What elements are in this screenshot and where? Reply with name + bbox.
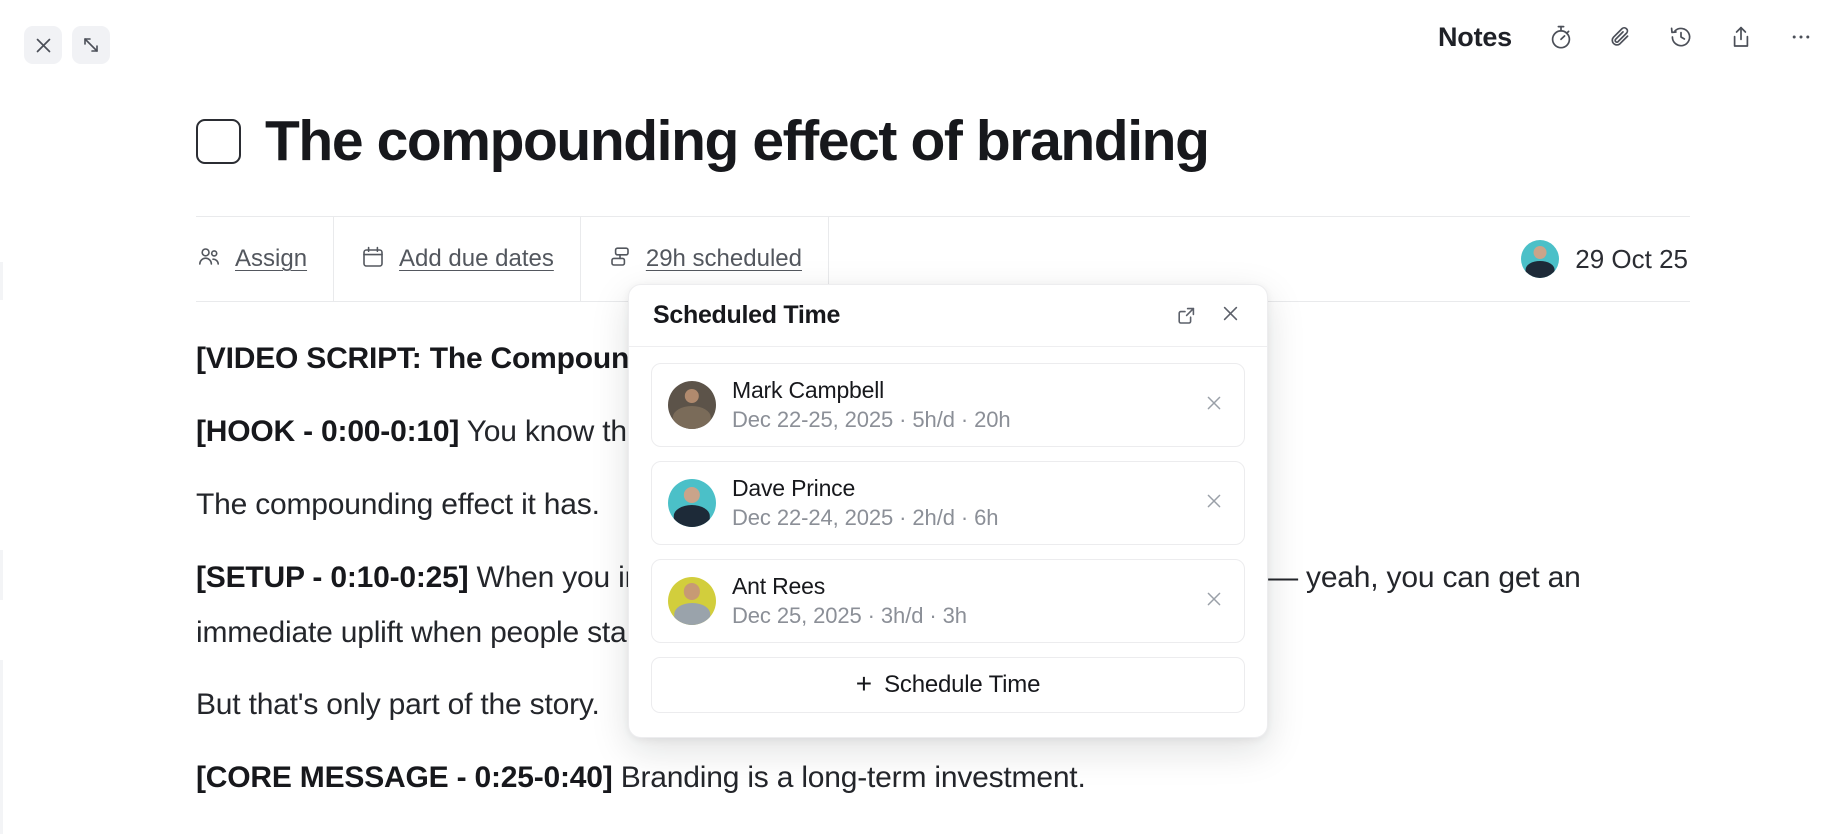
header-actions: Notes bbox=[1438, 20, 1818, 54]
popover-body: Mark Campbell Dec 22-25, 2025 · 5h/d · 2… bbox=[629, 347, 1267, 737]
history-icon[interactable] bbox=[1664, 20, 1698, 54]
list-item[interactable]: Mark Campbell Dec 22-25, 2025 · 5h/d · 2… bbox=[651, 363, 1245, 447]
schedule-time-label: Schedule Time bbox=[884, 671, 1040, 699]
remove-schedule-button[interactable] bbox=[1198, 389, 1230, 421]
scheduled-time-popover: Scheduled Time bbox=[628, 284, 1268, 738]
people-icon bbox=[196, 244, 222, 275]
assignee-name: Mark Campbell bbox=[732, 377, 1011, 405]
assign-button[interactable]: Assign bbox=[196, 216, 334, 302]
popover-close-button[interactable] bbox=[1213, 299, 1247, 333]
left-edge-rail bbox=[0, 0, 3, 834]
list-item[interactable]: Dave Prince Dec 22-24, 2025 · 2h/d · 6h bbox=[651, 461, 1245, 545]
list-item-text: Mark Campbell Dec 22-25, 2025 · 5h/d · 2… bbox=[732, 377, 1011, 433]
popover-title: Scheduled Time bbox=[653, 301, 840, 330]
expand-window-button[interactable] bbox=[72, 26, 110, 64]
schedule-time-button[interactable]: + Schedule Time bbox=[651, 657, 1245, 713]
assignee-schedule: Dec 22-24, 2025 · 2h/d · 6h bbox=[732, 505, 998, 531]
task-title-row: The compounding effect of branding bbox=[196, 112, 1209, 172]
paragraph-text: But that's only part of the story. bbox=[196, 688, 600, 721]
share-icon[interactable] bbox=[1724, 20, 1758, 54]
close-icon bbox=[1204, 589, 1224, 614]
task-date[interactable]: 29 Oct 25 bbox=[1521, 240, 1690, 278]
more-options-icon[interactable] bbox=[1784, 20, 1818, 54]
assignee-schedule: Dec 22-25, 2025 · 5h/d · 20h bbox=[732, 407, 1011, 433]
paragraph: [CORE MESSAGE - 0:25-0:40] Branding is a… bbox=[196, 751, 1676, 806]
window-toolbar: Notes bbox=[0, 0, 1840, 86]
paragraph: Think about it like buying stocks. You d… bbox=[196, 824, 1676, 834]
task-complete-checkbox[interactable] bbox=[196, 119, 241, 164]
popover-header: Scheduled Time bbox=[629, 285, 1267, 347]
paragraph-bold: [HOOK - 0:00-0:10] bbox=[196, 415, 459, 448]
paperclip-icon[interactable] bbox=[1604, 20, 1638, 54]
assignee-name: Dave Prince bbox=[732, 475, 998, 503]
scheduled-time-label: 29h scheduled bbox=[646, 245, 802, 273]
calendar-icon bbox=[360, 244, 386, 275]
remove-schedule-button[interactable] bbox=[1198, 487, 1230, 519]
avatar bbox=[668, 479, 716, 527]
avatar bbox=[668, 381, 716, 429]
assignee-name: Ant Rees bbox=[732, 573, 967, 601]
task-detail-window: Notes bbox=[0, 0, 1840, 834]
task-date-label: 29 Oct 25 bbox=[1575, 244, 1688, 275]
list-item-text: Dave Prince Dec 22-24, 2025 · 2h/d · 6h bbox=[732, 475, 998, 531]
paragraph-bold: [SETUP - 0:10-0:25] bbox=[196, 561, 468, 594]
add-due-dates-label: Add due dates bbox=[399, 245, 554, 273]
list-item-text: Ant Rees Dec 25, 2025 · 3h/d · 3h bbox=[732, 573, 967, 629]
close-icon bbox=[1204, 393, 1224, 418]
close-window-button[interactable] bbox=[24, 26, 62, 64]
avatar bbox=[1521, 240, 1559, 278]
paragraph-text: Branding is a long-term investment. bbox=[613, 761, 1086, 794]
assignee-schedule: Dec 25, 2025 · 3h/d · 3h bbox=[732, 603, 967, 629]
page-title: The compounding effect of branding bbox=[265, 112, 1209, 172]
close-icon bbox=[34, 36, 53, 55]
time-schedule-icon bbox=[607, 244, 633, 275]
paragraph-text: The compounding effect it has. bbox=[196, 488, 600, 521]
plus-icon: + bbox=[856, 670, 872, 698]
expand-diagonal-icon bbox=[81, 35, 101, 55]
external-link-icon[interactable] bbox=[1169, 299, 1203, 333]
close-icon bbox=[1204, 491, 1224, 516]
assign-label: Assign bbox=[235, 245, 307, 273]
stopwatch-icon[interactable] bbox=[1544, 20, 1578, 54]
avatar bbox=[668, 577, 716, 625]
close-icon bbox=[1220, 303, 1241, 329]
list-item[interactable]: Ant Rees Dec 25, 2025 · 3h/d · 3h bbox=[651, 559, 1245, 643]
remove-schedule-button[interactable] bbox=[1198, 585, 1230, 617]
paragraph-bold: [CORE MESSAGE - 0:25-0:40] bbox=[196, 761, 613, 794]
notes-label: Notes bbox=[1438, 22, 1512, 53]
add-due-dates-button[interactable]: Add due dates bbox=[334, 216, 581, 302]
